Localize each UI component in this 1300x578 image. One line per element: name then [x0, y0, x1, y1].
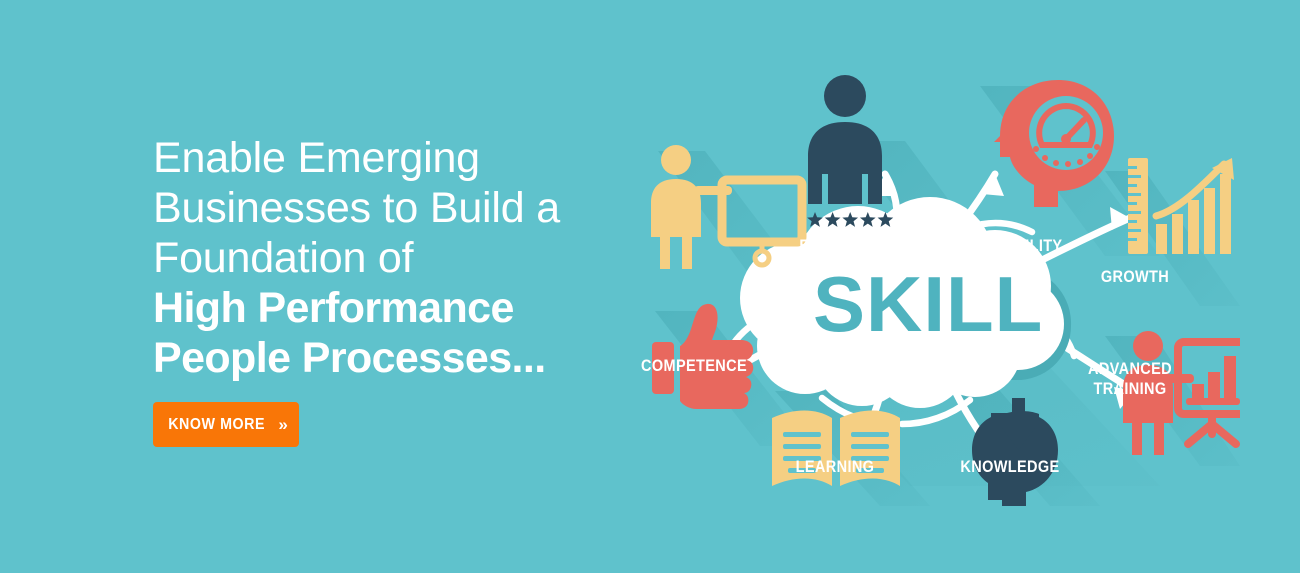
node-label-competence: COMPETENCE	[606, 356, 782, 376]
node-label-learning: LEARNING	[751, 457, 918, 477]
chevron-right-icon: »	[278, 415, 287, 435]
node-label-experience: EXPERIENCE	[760, 236, 936, 256]
headline-line-1: Enable Emerging	[153, 133, 583, 183]
headline-line-2: Businesses to Build a	[153, 183, 583, 233]
node-label-growth: GROWTH	[1051, 267, 1218, 287]
cloud-center-label: SKILL	[813, 265, 1043, 343]
node-label-advanced-training-line1: ADVANCED	[1042, 359, 1218, 379]
node-label-knowledge: KNOWLEDGE	[922, 457, 1098, 477]
hero-banner: Enable Emerging Businesses to Build a Fo…	[0, 0, 1300, 573]
headline-line-4: High Performance	[153, 283, 583, 333]
know-more-button[interactable]: KNOW MORE »	[153, 402, 299, 447]
person-five-stars-icon	[807, 75, 893, 227]
headline-block: Enable Emerging Businesses to Build a Fo…	[153, 133, 583, 383]
headline-line-3: Foundation of	[153, 233, 583, 283]
know-more-label: KNOW MORE	[168, 416, 265, 434]
node-label-advanced-training-line2: TRAINING	[1042, 379, 1218, 399]
skill-diagram: TRAINING EXPERIENCE ABILITY GROWTH ADVAN…	[600, 46, 1240, 506]
node-label-ability: ABILITY	[949, 236, 1116, 256]
ruler-bar-chart-arrow-icon	[1128, 158, 1234, 254]
bottom-divider	[0, 573, 1300, 578]
headline-line-5: People Processes...	[153, 333, 583, 383]
